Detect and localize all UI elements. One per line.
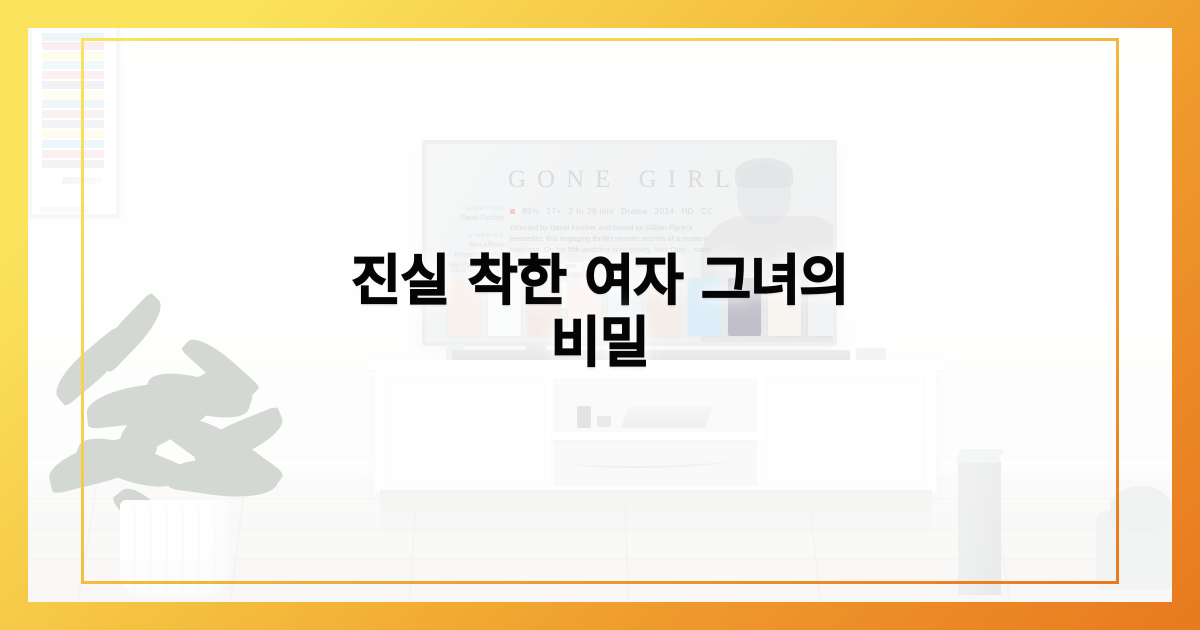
credits-column: DIRECTOR David Fincher STARRING Ben Affl… [432, 204, 504, 271]
movie-meta-row: 88% 17+ 2 hr 29 min Drama 2014 HD CC [510, 207, 714, 216]
availability-row: Available On iTunes HBO [510, 262, 614, 272]
director-name: David Fincher [432, 214, 504, 224]
year: 2014 [655, 207, 675, 216]
runtime: 2 hr 29 min [569, 207, 615, 216]
poster-thumb [768, 278, 801, 336]
console-open-bay [553, 378, 757, 486]
console-door-left [385, 378, 545, 486]
framed-wall-art [28, 28, 120, 218]
badge-cc: CC [701, 207, 714, 216]
television: GONE GIRL DIRECTOR David Fincher STARRIN… [422, 140, 837, 346]
plant-pot [120, 500, 228, 596]
poster-thumb [728, 278, 761, 336]
available-label: Available On [510, 264, 547, 271]
star-1: Ben Affleck [432, 241, 504, 251]
remote-control [577, 406, 591, 428]
social-card: GONE GIRL DIRECTOR David Fincher STARRIN… [0, 0, 1200, 630]
console-shadow [380, 490, 932, 536]
potted-plant [48, 268, 298, 598]
laptop [621, 406, 713, 428]
starring-label: STARRING [432, 231, 504, 241]
poster-row-label: More Like This [450, 268, 500, 274]
movie-title: GONE GIRL [508, 166, 741, 194]
star-2: Rosamund Pike [432, 251, 504, 261]
chip-hbo[interactable]: HBO [589, 262, 614, 272]
knitted-pouf [1096, 510, 1172, 590]
console-shelf [553, 432, 757, 440]
poster-thumb [688, 278, 721, 336]
photo-plate: GONE GIRL DIRECTOR David Fincher STARRIN… [28, 28, 1172, 602]
tv-screen: GONE GIRL DIRECTOR David Fincher STARRIN… [426, 144, 833, 342]
art-caption [40, 207, 88, 213]
movie-description: Directed by David Fincher and based on G… [510, 222, 725, 255]
console-top [369, 360, 946, 370]
poster-thumb [488, 278, 521, 336]
rating-dot-icon [510, 209, 515, 214]
poster-thumb [608, 278, 641, 336]
poster-thumb [808, 278, 833, 336]
poster-row [448, 278, 833, 336]
poster-thumb [568, 278, 601, 336]
stripe-print [42, 33, 104, 169]
cable [569, 454, 729, 468]
director-label: DIRECTOR [432, 204, 504, 214]
floor-speaker [958, 461, 1001, 595]
living-room-scene: GONE GIRL DIRECTOR David Fincher STARRIN… [28, 28, 1172, 602]
age-rating: 17+ [547, 207, 562, 216]
badge-hd: HD [681, 207, 694, 216]
chip-itunes[interactable]: iTunes [553, 262, 583, 272]
console-door-right [765, 378, 925, 486]
media-box [597, 416, 611, 427]
score: 88% [522, 207, 540, 216]
poster-thumb [448, 278, 481, 336]
tv-console [373, 366, 938, 494]
pouf-cushion [1110, 486, 1172, 530]
artist-signature [61, 177, 103, 184]
poster-thumb [648, 278, 681, 336]
speaker-top [955, 449, 1005, 463]
genre: Drama [621, 207, 648, 216]
poster-thumb [528, 278, 561, 336]
